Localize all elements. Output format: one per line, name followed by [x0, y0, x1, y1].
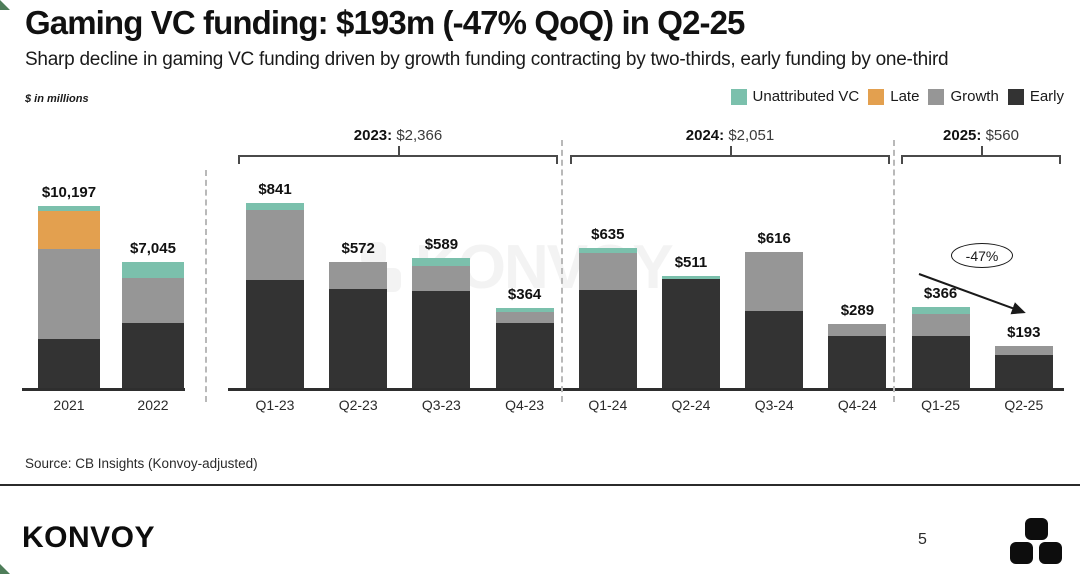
bar-segment-early	[246, 280, 304, 388]
category-label: Q3-23	[396, 397, 486, 413]
bar-value-label: $10,197	[24, 184, 114, 201]
page-number: 5	[918, 531, 927, 549]
bar-segment-unattributed	[38, 206, 100, 211]
category-label: Q1-23	[230, 397, 320, 413]
bar-group: $364Q4-23	[496, 0, 554, 388]
stacked-bar-q2-24[interactable]	[662, 276, 720, 388]
bar-segment-unattributed	[662, 276, 720, 279]
bar-value-label: $364	[482, 286, 568, 303]
stacked-bar-2022[interactable]	[122, 262, 184, 388]
year-separator	[893, 140, 895, 402]
bar-segment-growth	[122, 278, 184, 323]
bar-segment-unattributed	[122, 262, 184, 278]
bar-value-label: $193	[981, 324, 1067, 341]
decline-arrow-icon	[915, 268, 1040, 323]
bar-group: $572Q2-23	[329, 0, 387, 388]
bar-segment-early	[912, 336, 970, 388]
bar-segment-growth	[38, 249, 100, 339]
brand-wordmark: KONVOY	[22, 521, 155, 555]
bar-segment-unattributed	[496, 308, 554, 312]
category-label: Q3-24	[729, 397, 819, 413]
bar-segment-early	[496, 323, 554, 388]
bar-segment-early	[329, 289, 387, 388]
year-total-label-2024: 2024: $2,051	[570, 127, 890, 144]
category-label: Q2-23	[313, 397, 403, 413]
category-label: Q1-25	[896, 397, 986, 413]
bar-segment-early	[745, 311, 803, 388]
bar-segment-growth	[745, 252, 803, 311]
stacked-bar-q3-24[interactable]	[745, 252, 803, 388]
konvoy-logo-icon	[1010, 518, 1062, 566]
year-separator	[205, 170, 207, 402]
slide-canvas: Gaming VC funding: $193m (-47% QoQ) in Q…	[0, 0, 1080, 574]
bar-segment-early	[662, 279, 720, 388]
stacked-bar-q1-24[interactable]	[579, 248, 637, 388]
bar-value-label: $616	[731, 230, 817, 247]
bar-segment-growth	[579, 253, 637, 290]
bar-value-label: $572	[315, 240, 401, 257]
year-total-label-2023: 2023: $2,366	[238, 127, 558, 144]
bar-segment-unattributed	[412, 258, 470, 266]
category-label: Q2-25	[979, 397, 1069, 413]
bar-value-label: $635	[565, 226, 651, 243]
stacked-bar-q3-23[interactable]	[412, 258, 470, 388]
category-label: Q1-24	[563, 397, 653, 413]
bar-group: $7,0452022	[122, 0, 184, 388]
bar-group: $616Q3-24	[745, 0, 803, 388]
bar-group: $10,1972021	[38, 0, 100, 388]
bar-segment-early	[412, 291, 470, 388]
bar-segment-growth	[995, 346, 1053, 355]
bar-group: $841Q1-23	[246, 0, 304, 388]
stacked-bar-2021[interactable]	[38, 206, 100, 388]
category-label: Q2-24	[646, 397, 736, 413]
stacked-bar-q1-23[interactable]	[246, 203, 304, 388]
bar-segment-growth	[412, 266, 470, 291]
bar-segment-unattributed	[579, 248, 637, 253]
corner-accent-bottom-left	[0, 564, 10, 574]
bar-segment-early	[579, 290, 637, 388]
category-label: Q4-24	[812, 397, 902, 413]
bar-value-label: $589	[398, 236, 484, 253]
bar-segment-late	[38, 211, 100, 249]
bar-segment-growth	[246, 210, 304, 281]
bar-segment-growth	[828, 324, 886, 336]
bar-segment-early	[122, 323, 184, 388]
bar-segment-growth	[329, 262, 387, 289]
stacked-bar-q4-24[interactable]	[828, 324, 886, 388]
bar-segment-early	[38, 339, 100, 388]
bar-value-label: $7,045	[108, 240, 198, 257]
bar-value-label: $511	[648, 254, 734, 271]
qoq-change-badge: -47%	[951, 243, 1013, 268]
bar-segment-growth	[496, 312, 554, 323]
bar-group: $589Q3-23	[412, 0, 470, 388]
bar-group: $635Q1-24	[579, 0, 637, 388]
bar-group: $511Q2-24	[662, 0, 720, 388]
source-note: Source: CB Insights (Konvoy-adjusted)	[25, 456, 258, 471]
bar-value-label: $841	[232, 181, 318, 198]
year-total-label-2025: 2025: $560	[901, 127, 1061, 144]
category-label: 2022	[106, 397, 200, 413]
footer-divider	[0, 484, 1080, 486]
chart-plot-area: KONVOY $10,1972021$7,0452022$841Q1-23$57…	[0, 0, 1080, 440]
bar-group: $366Q1-25	[912, 0, 970, 388]
stacked-bar-q2-25[interactable]	[995, 346, 1053, 388]
stacked-bar-q4-23[interactable]	[496, 308, 554, 388]
year-separator	[561, 140, 563, 402]
category-label: Q4-23	[480, 397, 570, 413]
x-axis-line	[22, 388, 185, 391]
bar-segment-early	[828, 336, 886, 388]
bar-group: $289Q4-24	[828, 0, 886, 388]
x-axis-line	[228, 388, 1064, 391]
category-label: 2021	[22, 397, 116, 413]
stacked-bar-q2-23[interactable]	[329, 262, 387, 388]
bar-segment-unattributed	[246, 203, 304, 210]
bar-group: $193Q2-25	[995, 0, 1053, 388]
bar-value-label: $289	[814, 302, 900, 319]
bar-segment-early	[995, 355, 1053, 388]
